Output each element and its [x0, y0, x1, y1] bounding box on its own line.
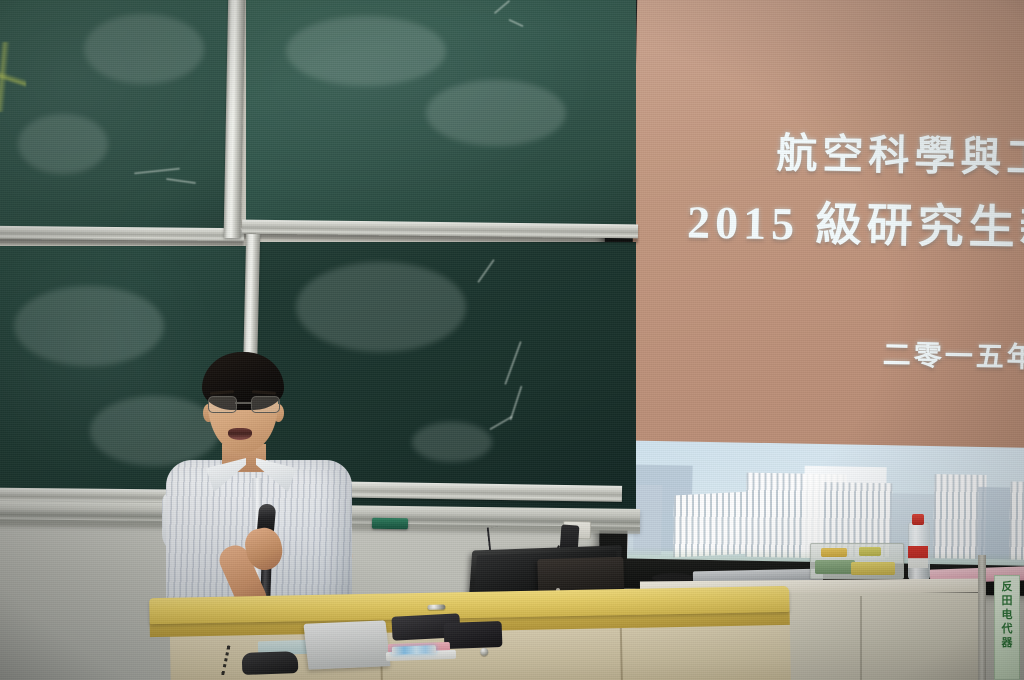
- green-wall-sign: 反 田 电 代 器: [994, 575, 1020, 680]
- board-eraser[interactable]: [372, 518, 408, 530]
- chalkboard-rail-vertical-upper: [224, 0, 246, 238]
- slide-title-area: 航空科學與工程 2015 級研究生新生 二零一五年九月: [629, 0, 1024, 448]
- projection-surface: 航空科學與工程 2015 級研究生新生 二零一五年九月: [627, 0, 1024, 584]
- sign-post: [978, 555, 986, 680]
- supply-box[interactable]: [810, 543, 904, 579]
- sign-char-3: 代: [1002, 622, 1013, 636]
- chalk-marks-yellow: [0, 42, 26, 112]
- glasses-bridge: [235, 402, 251, 404]
- projection-screen: 航空科學與工程 2015 級研究生新生 二零一五年九月: [598, 0, 1024, 596]
- glasses-lens-right: [251, 396, 280, 413]
- sign-char-2: 电: [1002, 608, 1013, 622]
- sign-char-0: 反: [1002, 580, 1013, 594]
- computer-mouse[interactable]: [242, 651, 299, 675]
- chalkboard-rail-horizontal-left: [0, 226, 244, 241]
- slide-title-line-2: 2015 級研究生新生: [687, 186, 1024, 260]
- black-pouch-lower[interactable]: [444, 621, 503, 649]
- lecture-hall-photo: 航空科學與工程 2015 級研究生新生 二零一五年九月: [0, 0, 1024, 680]
- water-bottle[interactable]: [908, 512, 928, 578]
- cabinet-door-seam: [860, 596, 862, 680]
- lectern-clip: [427, 604, 445, 609]
- blue-indicator-device[interactable]: [392, 645, 436, 655]
- sign-char-1: 田: [1002, 594, 1013, 608]
- glasses-lens-left: [208, 396, 237, 413]
- chalkboard-panel-top-right: [246, 0, 636, 233]
- lectern-laptop[interactable]: [303, 620, 390, 669]
- presenter-mouth: [228, 428, 252, 440]
- glasses-icon: [206, 396, 282, 412]
- sign-char-4: 器: [1002, 636, 1013, 650]
- bottle-label: [908, 546, 928, 568]
- slide-title-line-1: 航空科學與工程: [776, 119, 1024, 185]
- bottle-cap: [912, 514, 924, 525]
- slide-date-line: 二零一五年九月: [882, 333, 1024, 377]
- chalkboard-panel-top-left: [0, 0, 240, 232]
